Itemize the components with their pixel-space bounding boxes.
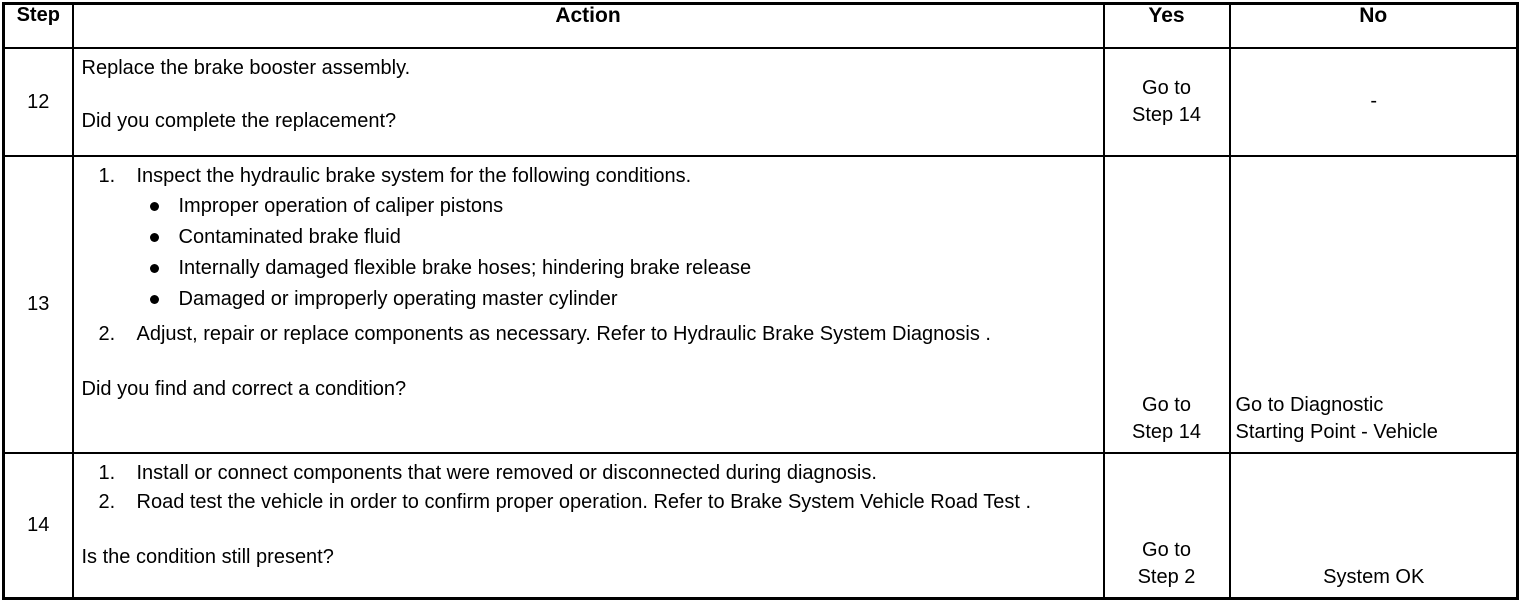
list-item: 2. Adjust, repair or replace components … [82, 321, 1095, 348]
yes-outcome-line2: Step 2 [1107, 564, 1227, 591]
action-numbered-list: 1. Inspect the hydraulic brake system fo… [82, 163, 1095, 348]
table-body: 12 Replace the brake booster assembly. D… [4, 48, 1518, 599]
list-marker: 1. [99, 163, 121, 190]
bullet-text: Contaminated brake fluid [179, 226, 401, 248]
header-row: Step Action Yes No [4, 4, 1518, 48]
diagnostic-step-table: Step Action Yes No 12 Replace the brake … [2, 2, 1519, 600]
spacer [82, 82, 1095, 108]
no-outcome: Go to Diagnostic Starting Point - Vehicl… [1230, 156, 1518, 453]
action-content: Replace the brake booster assembly. Did … [73, 48, 1104, 156]
step-number: 14 [4, 453, 73, 599]
column-header-action: Action [73, 4, 1104, 48]
yes-outcome-line2: Step 14 [1107, 419, 1227, 446]
list-item-text: Inspect the hydraulic brake system for t… [137, 165, 692, 187]
list-item: Damaged or improperly operating master c… [137, 286, 1095, 313]
no-outcome-line1: Go to Diagnostic [1236, 392, 1513, 419]
no-outcome-line1: - [1236, 88, 1513, 115]
list-item: Improper operation of caliper pistons [137, 193, 1095, 220]
list-item: 1. Inspect the hydraulic brake system fo… [82, 163, 1095, 313]
list-item: Contaminated brake fluid [137, 224, 1095, 251]
bullet-icon [150, 295, 159, 304]
action-question-text: Did you complete the replacement? [82, 108, 1095, 135]
list-marker: 2. [99, 321, 121, 348]
list-item: 2. Road test the vehicle in order to con… [82, 489, 1095, 516]
no-outcome: - [1230, 48, 1518, 156]
action-question-text: Did you find and correct a condition? [82, 376, 1095, 403]
yes-outcome: Go to Step 14 [1104, 48, 1230, 156]
list-item: Internally damaged flexible brake hoses;… [137, 255, 1095, 282]
bullet-icon [150, 264, 159, 273]
list-item-text: Install or connect components that were … [137, 462, 877, 484]
list-marker: 2. [99, 489, 121, 516]
no-outcome: System OK [1230, 453, 1518, 599]
bullet-text: Internally damaged flexible brake hoses;… [179, 257, 752, 279]
column-header-no: No [1230, 4, 1518, 48]
list-item-text: Road test the vehicle in order to confir… [137, 491, 1032, 513]
bullet-text: Improper operation of caliper pistons [179, 195, 504, 217]
yes-outcome: Go to Step 2 [1104, 453, 1230, 599]
action-numbered-list: 1. Install or connect components that we… [82, 460, 1095, 516]
action-content: 1. Install or connect components that we… [73, 453, 1104, 599]
yes-outcome-line1: Go to [1107, 392, 1227, 419]
yes-outcome: Go to Step 14 [1104, 156, 1230, 453]
list-marker: 1. [99, 460, 121, 487]
action-bullet-list: Improper operation of caliper pistons Co… [137, 193, 1095, 313]
spacer [82, 350, 1095, 376]
no-outcome-line1: System OK [1236, 564, 1513, 591]
spacer [82, 518, 1095, 544]
bullet-icon [150, 233, 159, 242]
column-header-step: Step [4, 4, 73, 48]
table-row: 14 1. Install or connect components that… [4, 453, 1518, 599]
yes-outcome-line1: Go to [1107, 537, 1227, 564]
list-item-text: Adjust, repair or replace components as … [137, 323, 991, 345]
step-number: 12 [4, 48, 73, 156]
yes-outcome-line2: Step 14 [1107, 102, 1227, 129]
column-header-yes: Yes [1104, 4, 1230, 48]
table-header: Step Action Yes No [4, 4, 1518, 48]
action-question-text: Is the condition still present? [82, 544, 1095, 571]
yes-outcome-line1: Go to [1107, 75, 1227, 102]
action-intro-text: Replace the brake booster assembly. [82, 55, 1095, 82]
bullet-text: Damaged or improperly operating master c… [179, 288, 618, 310]
table-row: 12 Replace the brake booster assembly. D… [4, 48, 1518, 156]
no-outcome-line2: Starting Point - Vehicle [1236, 419, 1513, 446]
bullet-icon [150, 202, 159, 211]
list-item: 1. Install or connect components that we… [82, 460, 1095, 487]
step-number: 13 [4, 156, 73, 453]
action-content: 1. Inspect the hydraulic brake system fo… [73, 156, 1104, 453]
table-row: 13 1. Inspect the hydraulic brake system… [4, 156, 1518, 453]
